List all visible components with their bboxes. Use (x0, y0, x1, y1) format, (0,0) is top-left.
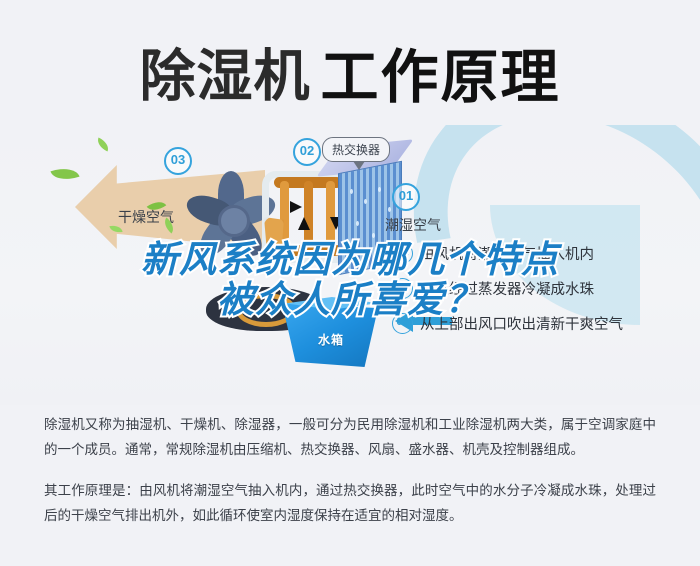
body-copy: 除湿机又称为抽湿机、干燥机、除湿器，一般可分为民用除湿机和工业除湿机两大类，属于… (0, 412, 700, 528)
legend-text-03: 从上部出风口吹出清新干爽空气 (420, 313, 623, 334)
legend-list: 01 由风机将潮湿空气抽入机内 02 空气经过蒸发器冷凝成水珠 03 从上部出风… (392, 243, 692, 348)
legend-text-01: 由风机将潮湿空气抽入机内 (420, 243, 594, 264)
page-title-secondary: 工作原理 (320, 45, 560, 110)
legend-item: 01 由风机将潮湿空气抽入机内 (392, 243, 692, 264)
step-badge-03: 03 (164, 147, 192, 175)
leaf-icon (95, 137, 111, 151)
step-badge-02: 02 (293, 138, 321, 166)
dry-air-label: 干燥空气 (118, 207, 174, 227)
legend-text-02: 空气经过蒸发器冷凝成水珠 (420, 278, 594, 299)
fan-hub (218, 205, 250, 237)
heat-exchanger-callout: 热交换器 (322, 137, 390, 162)
humid-air-label: 潮湿空气 (385, 215, 441, 235)
coil-pipe (326, 181, 335, 251)
step-badge-01: 01 (392, 183, 420, 211)
poster-root: 除湿机工作原理 (0, 0, 700, 566)
dehumidifier-diagram: 水箱 03 02 01 热交换器 干燥空气 潮湿空气 01 由风机将潮湿空气抽入… (0, 125, 700, 405)
legend-item: 03 从上部出风口吹出清新干爽空气 (392, 313, 692, 334)
page-title-primary: 除湿机 (139, 45, 310, 108)
leaf-icon (50, 163, 79, 184)
legend-badge-01: 01 (392, 243, 413, 264)
flow-arrow-up-icon (298, 217, 310, 230)
body-paragraph-2: 其工作原理是：由风机将潮湿空气抽入机内，通过热交换器，此时空气中的水分子冷凝成水… (44, 478, 656, 528)
legend-badge-02: 02 (392, 278, 413, 299)
coil-pipe (304, 181, 313, 251)
flow-arrow-right-icon (290, 201, 302, 213)
water-tank-label: 水箱 (318, 331, 344, 348)
legend-item: 02 空气经过蒸发器冷凝成水珠 (392, 278, 692, 299)
legend-badge-03: 03 (392, 313, 413, 334)
body-paragraph-1: 除湿机又称为抽湿机、干燥机、除湿器，一般可分为民用除湿机和工业除湿机两大类，属于… (44, 412, 656, 462)
coil-pipe (274, 245, 342, 256)
page-title: 除湿机工作原理 (0, 30, 700, 114)
compressor-cylinder (264, 217, 284, 253)
